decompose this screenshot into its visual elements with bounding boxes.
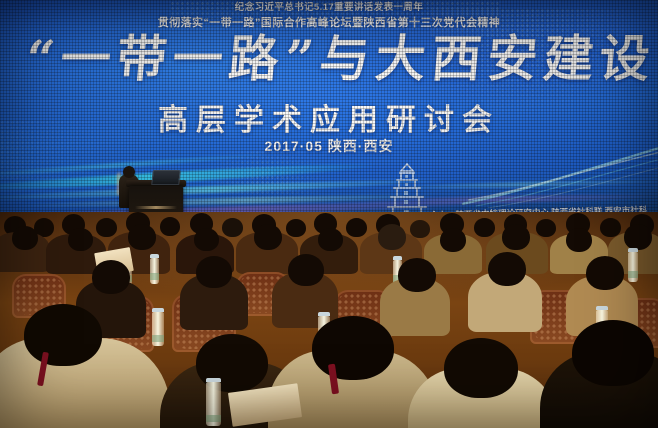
audience-head-front xyxy=(444,338,518,398)
screen-date-location-text: 2017·05 陕西·西安 xyxy=(265,138,394,154)
bottle-cap xyxy=(206,378,221,382)
bottle-cap xyxy=(150,254,159,258)
audience-head xyxy=(624,224,652,250)
audience-head xyxy=(194,228,219,251)
audience-head xyxy=(196,256,232,288)
audience-head xyxy=(96,218,117,237)
bottle-cap xyxy=(596,306,608,310)
water-bottle xyxy=(628,252,638,282)
water-bottle xyxy=(206,382,221,426)
laptop-icon xyxy=(151,170,181,185)
audience-head xyxy=(502,224,530,250)
audience-head xyxy=(488,252,526,286)
audience-head xyxy=(254,224,282,250)
audience-head xyxy=(586,256,624,290)
audience-head xyxy=(68,228,93,251)
light-streak xyxy=(0,177,450,202)
audience-head xyxy=(440,228,466,252)
bottle-label xyxy=(152,335,164,342)
audience-head xyxy=(288,254,324,286)
audience-head xyxy=(566,228,592,252)
audience-head xyxy=(346,218,367,237)
audience-head-front xyxy=(24,304,102,366)
screen-subtitle-text: 高层学术应用研讨会 xyxy=(158,103,500,138)
audience-head xyxy=(378,224,406,250)
led-backdrop-screen: 纪念习近平总书记5.17重要讲话发表一周年 贯彻落实“一带一路”国际合作高峰论坛… xyxy=(0,0,658,232)
audience-head xyxy=(92,260,130,294)
audience-head xyxy=(286,219,306,237)
screen-header-line-1: 纪念习近平总书记5.17重要讲话发表一周年 xyxy=(0,0,658,13)
bottle-cap xyxy=(393,256,402,260)
bottle-cap xyxy=(628,248,638,252)
bottle-label xyxy=(628,271,638,278)
light-streak xyxy=(380,178,658,190)
screen-date-location: 2017·05 陕西·西安 xyxy=(0,136,658,156)
bottle-label xyxy=(206,415,221,422)
screen-main-title-text: “一带一路”与大西安建设 xyxy=(23,28,658,90)
audience-head xyxy=(410,220,430,238)
bottle-cap xyxy=(318,312,330,316)
light-streak xyxy=(10,193,440,209)
halftone-dots-icon xyxy=(195,150,335,220)
audience-head xyxy=(12,226,38,250)
water-bottle xyxy=(150,258,159,284)
light-streak xyxy=(0,160,380,193)
screen-subtitle: 高层学术应用研讨会 xyxy=(0,95,658,139)
audience-head xyxy=(536,219,556,237)
audience-head xyxy=(318,228,343,251)
audience-area xyxy=(0,212,658,428)
audience-head xyxy=(128,224,156,250)
audience-head xyxy=(160,217,180,236)
water-bottle xyxy=(152,312,164,346)
audience-head-front xyxy=(312,316,394,380)
bottle-cap xyxy=(152,308,164,312)
audience-head xyxy=(398,258,436,292)
speaker-head xyxy=(123,166,135,178)
audience-head xyxy=(474,218,495,237)
screen-main-title: “一带一路”与大西安建设 xyxy=(0,28,658,90)
conference-photo: 纪念习近平总书记5.17重要讲话发表一周年 贯彻落实“一带一路”国际合作高峰论坛… xyxy=(0,0,658,428)
audience-head-front xyxy=(572,320,654,386)
lectern-text-line xyxy=(135,206,177,209)
audience-head xyxy=(222,218,243,237)
bottle-label xyxy=(150,273,159,280)
